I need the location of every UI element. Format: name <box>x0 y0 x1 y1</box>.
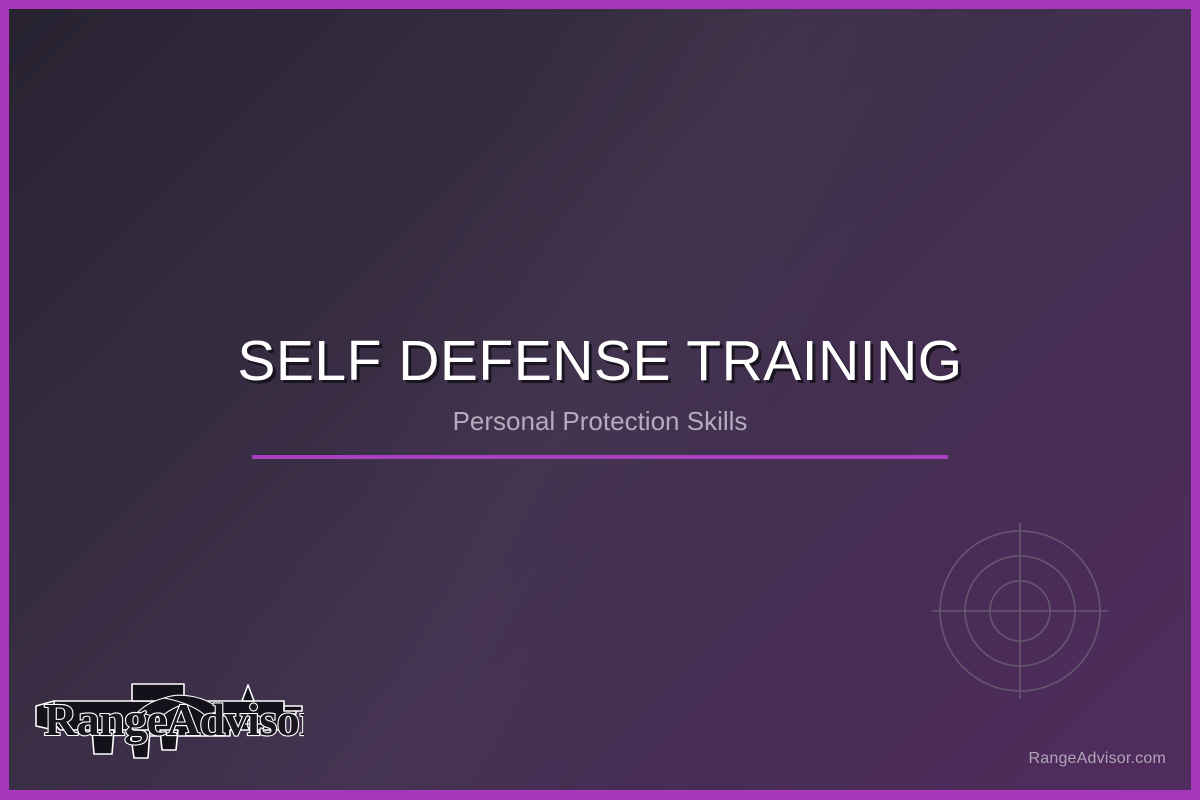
crosshair-target-icon <box>932 523 1108 699</box>
title-block: SELF DEFENSE TRAINING Personal Protectio… <box>9 331 1191 436</box>
page-subtitle: Personal Protection Skills <box>9 407 1191 437</box>
slide-canvas: SELF DEFENSE TRAINING Personal Protectio… <box>9 9 1191 790</box>
title-divider-rule <box>252 455 948 459</box>
brand-wordmark: RangeAdvisor <box>44 694 304 745</box>
page-title: SELF DEFENSE TRAINING <box>9 331 1191 393</box>
presentation-slide: SELF DEFENSE TRAINING Personal Protectio… <box>0 0 1200 800</box>
footer-website-url: RangeAdvisor.com <box>1029 750 1167 768</box>
brand-logo: RangeAdvisor <box>34 676 304 762</box>
